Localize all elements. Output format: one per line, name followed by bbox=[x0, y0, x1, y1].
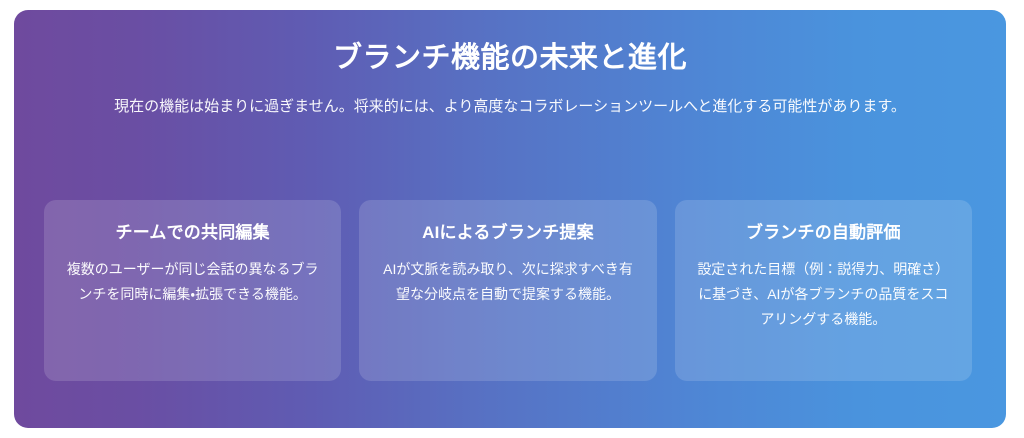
feature-card-body: 設定された目標（例：説得力、明確さ）に基づき、AIが各ブランチの品質をスコアリン… bbox=[693, 257, 954, 332]
feature-card-automatic-branch-evaluation: ブランチの自動評価 設定された目標（例：説得力、明確さ）に基づき、AIが各ブラン… bbox=[675, 200, 972, 381]
panel-subtitle: 現在の機能は始まりに過ぎません。将来的には、より高度なコラボレーションツールへと… bbox=[110, 76, 910, 120]
screenshot-stage: ブランチ機能の未来と進化 現在の機能は始まりに過ぎません。将来的には、より高度な… bbox=[0, 0, 1024, 438]
feature-card-body: 複数のユーザーが同じ会話の異なるブランチを同時に編集・拡張できる機能。 bbox=[62, 257, 323, 307]
feature-card-body: AIが文脈を読み取り、次に探求すべき有望な分岐点を自動で提案する機能。 bbox=[377, 257, 638, 307]
future-evolution-panel: ブランチ機能の未来と進化 現在の機能は始まりに過ぎません。将来的には、より高度な… bbox=[14, 10, 1006, 428]
feature-card-title: AIによるブランチ提案 bbox=[377, 222, 638, 245]
page-title: ブランチ機能の未来と進化 bbox=[14, 10, 1006, 76]
feature-card-title: チームでの共同編集 bbox=[62, 222, 323, 245]
feature-card-collaborative-editing: チームでの共同編集 複数のユーザーが同じ会話の異なるブランチを同時に編集・拡張で… bbox=[44, 200, 341, 381]
feature-card-title: ブランチの自動評価 bbox=[693, 222, 954, 245]
feature-card-list: チームでの共同編集 複数のユーザーが同じ会話の異なるブランチを同時に編集・拡張で… bbox=[44, 200, 972, 381]
feature-card-ai-branch-suggestion: AIによるブランチ提案 AIが文脈を読み取り、次に探求すべき有望な分岐点を自動で… bbox=[359, 200, 656, 381]
